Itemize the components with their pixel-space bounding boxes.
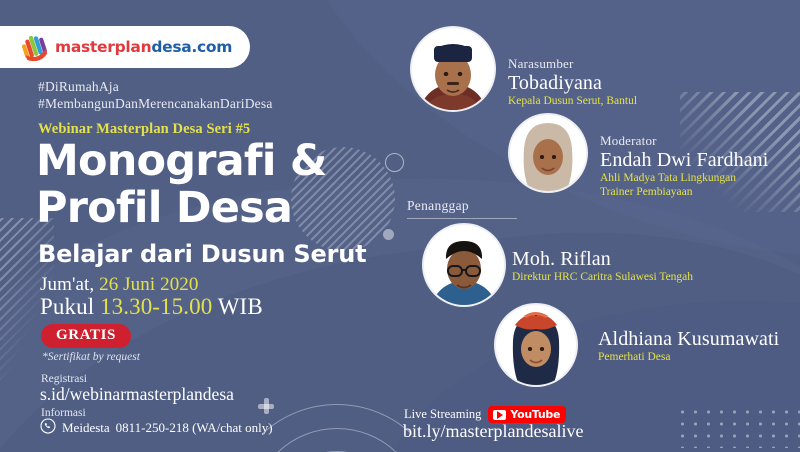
avatar-speaker-1 [412, 28, 494, 110]
whatsapp-contact-name: Meidesta [62, 420, 110, 436]
speaker-block-2: Moderator Endah Dwi Fardhani Ahli Madya … [600, 133, 768, 199]
subtitle: Belajar dari Dusun Serut [38, 240, 366, 268]
price-badge: GRATIS [41, 324, 131, 348]
hashtag-line-2: #MembangunDanMerencanakanDariDesa [38, 95, 273, 112]
title-line-1: Monografi & [36, 138, 327, 185]
youtube-label: YouTube [510, 408, 560, 421]
event-date-value: 26 Juni 2020 [99, 274, 198, 295]
event-day: Jum'at, [40, 274, 94, 295]
outline-circle-icon [385, 153, 404, 172]
event-date: Jum'at, 26 Juni 2020 [40, 274, 199, 296]
youtube-play-glyph [493, 410, 506, 420]
speaker-name-3: Moh. Riflan [512, 248, 693, 271]
speaker-block-4: Aldhiana Kusumawati Pemerhati Desa [598, 328, 779, 365]
hashtag-line-1: #DiRumahAja [38, 78, 273, 95]
speaker-desc-4: Pemerhati Desa [598, 351, 779, 365]
page-title: Monografi & Profil Desa [36, 138, 327, 232]
title-line-2: Profil Desa [36, 185, 327, 232]
event-time-prefix: Pukul [40, 294, 94, 319]
event-time: Pukul 13.30-15.00 WIB [40, 294, 263, 320]
speaker-name-2: Endah Dwi Fardhani [600, 149, 768, 172]
brand-logo-text-blue: desa.com [151, 38, 232, 56]
dot-grid-pattern-icon [674, 404, 800, 448]
whatsapp-phone: 0811-250-218 (WA/chat only) [116, 420, 273, 436]
avatar-speaker-4 [496, 305, 576, 385]
live-streaming-url[interactable]: bit.ly/masterplandesalive [403, 421, 583, 442]
panel-section-label: Penanggap [407, 198, 469, 214]
speaker-block-1: Narasumber Tobadiyana Kepala Dusun Serut… [508, 56, 637, 109]
brand-logo-text-red: masterplan [55, 38, 151, 56]
whatsapp-contact[interactable]: Meidesta 0811-250-218 (WA/chat only) [40, 418, 273, 438]
certificate-note: *Sertifikat by request [42, 351, 140, 363]
avatar-speaker-3 [424, 225, 504, 305]
speaker-desc-1: Kepala Dusun Serut, Bantul [508, 95, 637, 109]
speaker-desc-2-line-2: Trainer Pembiayaan [600, 186, 768, 200]
speaker-block-3: Moh. Riflan Direktur HRC Caritra Sulawes… [512, 248, 693, 285]
registration-url[interactable]: s.id/webinarmasterplandesa [40, 384, 234, 405]
hashtags: #DiRumahAja #MembangunDanMerencanakanDar… [38, 78, 273, 112]
speaker-name-4: Aldhiana Kusumawati [598, 328, 779, 351]
avatar-speaker-2 [510, 115, 586, 191]
speaker-desc-2-line-1: Ahli Madya Tata Lingkungan [600, 172, 768, 186]
live-streaming-text: Live Streaming [404, 407, 481, 422]
webinar-poster: masterplandesa.com #DiRumahAja #Membangu… [0, 0, 800, 452]
whatsapp-icon [40, 418, 56, 438]
colorful-hand-icon [22, 34, 48, 61]
event-timezone: WIB [218, 294, 263, 319]
brand-logo-text: masterplandesa.com [55, 38, 232, 56]
concentric-circles-icon [262, 404, 412, 452]
speaker-role-2: Moderator [600, 133, 768, 149]
brand-logo[interactable]: masterplandesa.com [0, 26, 250, 68]
speaker-role-1: Narasumber [508, 56, 637, 72]
event-time-value: 13.30-15.00 [100, 294, 212, 319]
speaker-name-1: Tobadiyana [508, 72, 637, 95]
panel-section-divider [407, 218, 517, 219]
filled-dot-icon [383, 229, 394, 240]
speaker-desc-3: Direktur HRC Caritra Sulawesi Tengah [512, 271, 693, 285]
